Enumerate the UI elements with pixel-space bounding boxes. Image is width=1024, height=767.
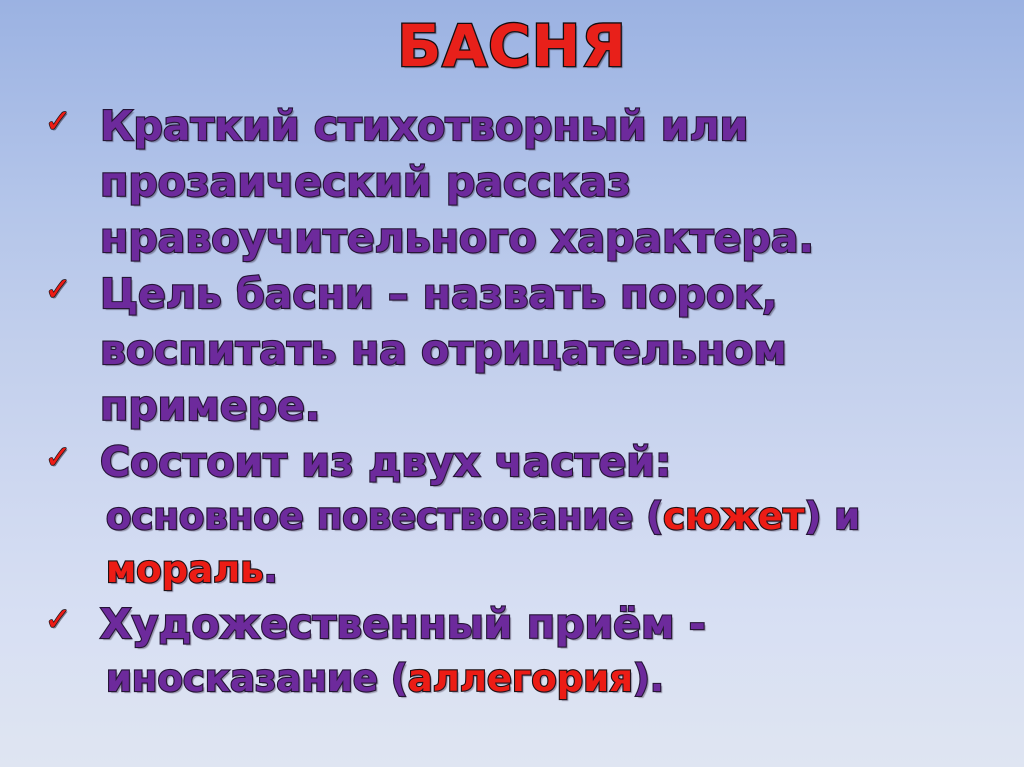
bullet-text: прозаический рассказ: [100, 158, 631, 206]
bullet-text: Краткий стихотворный или: [100, 102, 748, 150]
bullet-line: мораль.: [100, 543, 1014, 596]
bullet-line: воспитать на отрицательном: [100, 322, 1014, 378]
bullet-line: основное повествование (сюжет) и: [100, 490, 1014, 543]
bullet-text: примере.: [100, 382, 320, 430]
check-icon: ✓: [41, 436, 75, 478]
bullet-line: примере.: [100, 378, 1014, 434]
list-item: ✓Краткий стихотворный илипрозаический ра…: [0, 98, 1024, 266]
bullet-text: Состоит из двух частей:: [100, 438, 671, 486]
bullet-text: нравоучительного характера.: [100, 214, 814, 262]
bullet-line: нравоучительного характера.: [100, 210, 1014, 266]
highlighted-term: аллегория: [408, 657, 633, 700]
bullet-text: иносказание (: [106, 657, 408, 700]
bullet-line: иносказание (аллегория).: [100, 652, 1014, 705]
bullet-text: основное повествование (: [106, 495, 663, 538]
bullet-text: ) и: [804, 495, 860, 538]
bullet-text: Художественный приём -: [100, 600, 706, 648]
bullet-line: Художественный приём -: [100, 596, 1014, 652]
check-icon: ✓: [41, 100, 75, 142]
bullet-text: ).: [633, 657, 664, 700]
bullet-list: ✓Краткий стихотворный илипрозаический ра…: [0, 98, 1024, 705]
page-title: БАСНЯ: [0, 14, 1024, 78]
check-icon: ✓: [41, 598, 75, 640]
list-item: ✓Состоит из двух частей:основное повеств…: [0, 434, 1024, 596]
list-item: ✓Цель басни – назвать порок,воспитать на…: [0, 266, 1024, 434]
bullet-line: Цель басни – назвать порок,: [100, 266, 1014, 322]
check-icon: ✓: [41, 268, 75, 310]
bullet-line: Краткий стихотворный или: [100, 98, 1014, 154]
bullet-line: Состоит из двух частей:: [100, 434, 1014, 490]
presentation-slide: БАСНЯ ✓Краткий стихотворный илипрозаичес…: [0, 0, 1024, 767]
bullet-text: .: [264, 548, 278, 591]
highlighted-term: сюжет: [663, 495, 804, 538]
list-item: ✓Художественный приём -иносказание (алле…: [0, 596, 1024, 705]
bullet-text: воспитать на отрицательном: [100, 326, 787, 374]
bullet-line: прозаический рассказ: [100, 154, 1014, 210]
bullet-text: Цель басни – назвать порок,: [100, 270, 778, 318]
highlighted-term: мораль: [106, 548, 264, 591]
